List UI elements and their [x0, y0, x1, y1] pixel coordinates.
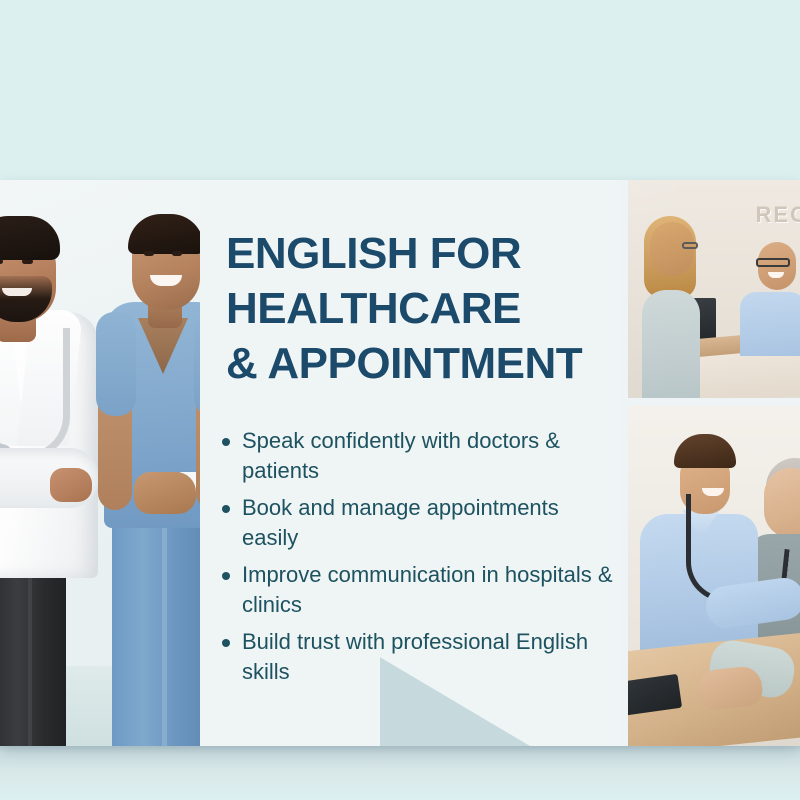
- male-doctor-figure: [0, 180, 104, 746]
- slide-canvas: ENGLISH FOR HEALTHCARE & APPOINTMENT Spe…: [0, 0, 800, 800]
- title-line-2: HEALTHCARE: [226, 281, 622, 336]
- visitor-top: [642, 290, 700, 398]
- doctor-smile: [2, 288, 32, 296]
- title-line-3: & APPOINTMENT: [226, 336, 622, 391]
- receptionist-glasses-icon: [756, 258, 790, 267]
- nurse-eye-right: [172, 251, 182, 256]
- nurse-hair-top: [128, 214, 204, 254]
- visitor-head: [650, 222, 694, 276]
- receptionist-blouse: [740, 292, 800, 356]
- list-item: Build trust with professional English sk…: [218, 627, 620, 687]
- patient-head: [764, 468, 800, 538]
- slide-card: ENGLISH FOR HEALTHCARE & APPOINTMENT Spe…: [0, 180, 800, 746]
- doctor-hand: [50, 468, 92, 502]
- nurse-clasped-hands: [134, 472, 196, 514]
- right-photo-column: REC: [620, 180, 800, 746]
- stethoscope-icon: [0, 328, 70, 460]
- reception-sign-text: REC: [756, 202, 800, 228]
- nurse-eye-left: [144, 251, 154, 256]
- photo-divider-vertical: [620, 180, 628, 746]
- photo-divider-horizontal: [620, 398, 800, 406]
- content-panel: ENGLISH FOR HEALTHCARE & APPOINTMENT Spe…: [200, 180, 620, 746]
- list-item: Book and manage appointments easily: [218, 493, 620, 553]
- list-item: Speak confidently with doctors & patient…: [218, 426, 620, 486]
- list-item: Improve communication in hospitals & cli…: [218, 560, 620, 620]
- left-photo-medical-team: [0, 180, 232, 746]
- benefits-list: Speak confidently with doctors & patient…: [218, 426, 620, 694]
- title-line-1: ENGLISH FOR: [226, 226, 622, 281]
- visitor-glasses-icon: [682, 242, 698, 249]
- floor-band: [0, 745, 800, 800]
- page-title: ENGLISH FOR HEALTHCARE & APPOINTMENT: [226, 226, 622, 391]
- doctor-hair: [0, 216, 60, 260]
- bottom-right-photo-examination: [628, 406, 800, 746]
- nurse-sleeve-left: [96, 312, 136, 416]
- top-right-photo-reception: REC: [628, 180, 800, 398]
- patient-hands: [698, 665, 764, 711]
